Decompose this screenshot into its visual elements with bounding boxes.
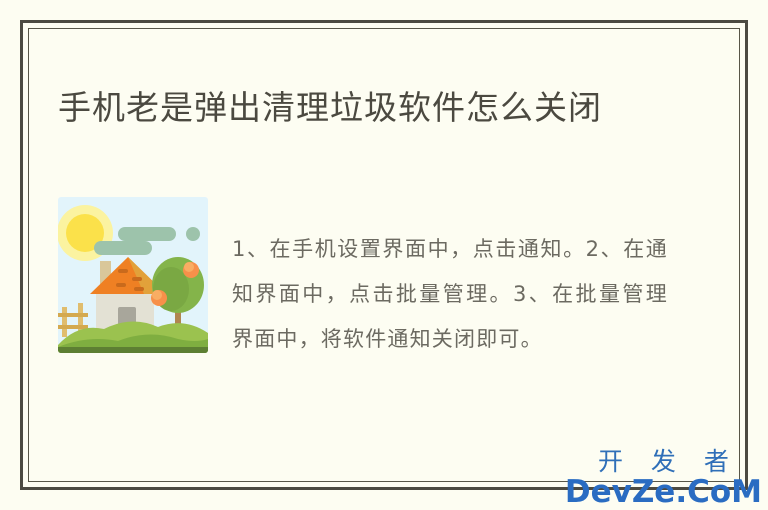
watermark-en: DevZe.CoM (565, 477, 762, 508)
page-title: 手机老是弹出清理垃圾软件怎么关闭 (58, 84, 658, 132)
article-thumbnail (58, 197, 208, 353)
article-body: 1、在手机设置界面中，点击通知。2、在通知界面中，点击批量管理。3、在批量管理界… (232, 227, 668, 362)
article-card: 手机老是弹出清理垃圾软件怎么关闭 (0, 0, 768, 510)
illustration-house-sun-tree (58, 197, 208, 353)
watermark-cn: 开 发 者 (565, 449, 762, 474)
watermark: 开 发 者 DevZe.CoM (565, 449, 762, 508)
